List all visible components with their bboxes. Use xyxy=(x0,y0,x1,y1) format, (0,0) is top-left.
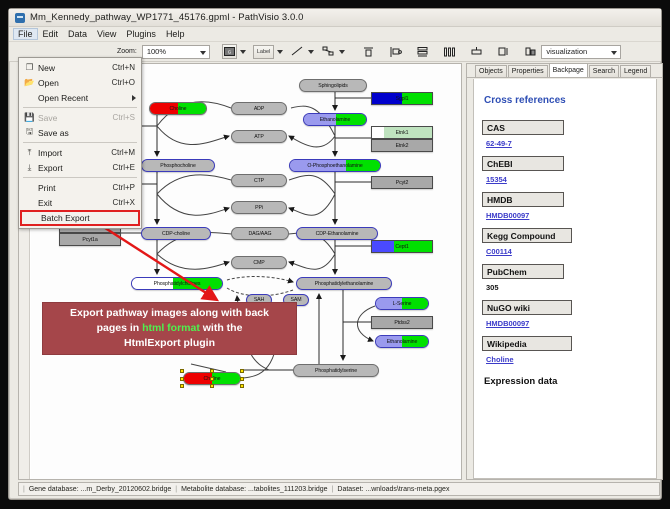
selection-handle[interactable] xyxy=(210,377,214,381)
pathway-node-ethanolamine-top[interactable]: Ethanolamine xyxy=(303,113,367,126)
pathway-node-label: Phosphatidylserine xyxy=(315,368,357,374)
menu-item-shortcut: Ctrl+O xyxy=(112,78,141,87)
status-dataset: Dataset: ...wnloads\trans-meta.pgex xyxy=(337,486,449,493)
annotation-line3: HtmlExport plugin xyxy=(124,337,215,349)
zoom-label: Zoom: xyxy=(117,48,137,55)
align-left-icon[interactable] xyxy=(388,44,403,59)
menu-data[interactable]: Data xyxy=(63,28,92,40)
xref-section-header: CAS xyxy=(482,120,564,135)
pathway-node-atp[interactable]: ATP xyxy=(231,130,287,143)
xref-section-header: ChEBI xyxy=(482,156,564,171)
menu-item-save: 💾SaveCtrl+S xyxy=(19,110,141,125)
datanode-icon[interactable]: G xyxy=(222,44,237,59)
annotation-line2-a: pages in xyxy=(97,322,143,334)
selection-handle[interactable] xyxy=(180,377,184,381)
chevron-down-icon xyxy=(200,51,206,55)
menu-item-shortcut: Ctrl+X xyxy=(113,198,141,207)
menu-item-label: Exit xyxy=(38,198,113,208)
pathway-node-label: CMP xyxy=(253,260,264,266)
xref-section-header: NuGO wiki xyxy=(482,300,572,315)
menu-item-label: Save as xyxy=(38,128,135,138)
pathway-node-sphingolipids[interactable]: Sphingolipids xyxy=(299,79,367,92)
group-icon[interactable] xyxy=(469,44,484,59)
status-gene-database: Gene database: ...m_Derby_20120602.bridg… xyxy=(29,486,171,493)
xref-link[interactable]: HMDB00097 xyxy=(486,211,648,220)
annotation-line1: Export pathway images along with back xyxy=(70,307,269,319)
export-icon: ⤓ xyxy=(21,162,38,173)
pathway-node-label: Phosphocholine xyxy=(160,163,196,169)
open-folder-icon: 📂 xyxy=(21,77,38,88)
selection-handle[interactable] xyxy=(180,369,184,373)
pathway-node-label: Pcyt1a xyxy=(82,237,97,243)
new-file-icon: ❐ xyxy=(21,62,38,73)
pathway-node-sgpl1[interactable]: Sgpl1 xyxy=(371,92,433,105)
selection-handle[interactable] xyxy=(180,384,184,388)
visualization-combo[interactable]: visualization xyxy=(541,45,621,59)
pathway-node-label: PPi xyxy=(255,205,263,211)
annotation-line2-b: with the xyxy=(200,322,243,334)
pathway-node-ethanolamine-bot[interactable]: Ethanolamine xyxy=(375,335,429,348)
pathway-node-label: Etnk1 xyxy=(396,130,409,136)
pathway-node-etnk2[interactable]: Etnk2 xyxy=(371,139,433,152)
distribute-icon[interactable] xyxy=(442,44,457,59)
pathway-node-phosphatidylcholines[interactable]: Phosphatidylcholines xyxy=(131,277,223,290)
menu-item-label: Save xyxy=(38,113,113,123)
expression-data-heading: Expression data xyxy=(484,376,648,387)
interaction-icon[interactable] xyxy=(321,44,336,59)
xref-section-header: HMDB xyxy=(482,192,564,207)
menu-item-new[interactable]: ❐NewCtrl+N xyxy=(19,60,141,75)
pathway-node-label: ATP xyxy=(254,134,263,140)
side-panel: Objects Properties Backpage Search Legen… xyxy=(466,63,663,480)
chevron-down-icon xyxy=(611,51,617,55)
selection-handle[interactable] xyxy=(210,369,214,373)
menu-item-shortcut: Ctrl+E xyxy=(113,163,141,172)
tab-properties[interactable]: Properties xyxy=(508,65,548,77)
order-icon[interactable] xyxy=(496,44,511,59)
pathway-node-label: ADP xyxy=(254,106,264,112)
pathway-node-o-phosphoethanol[interactable]: O-Phosphoethanolamine xyxy=(289,159,381,172)
menu-item-label: Batch Export xyxy=(41,213,132,223)
label-button[interactable]: Label xyxy=(253,45,274,59)
pathway-node-label: DAG/AAG xyxy=(249,231,272,237)
pathway-node-pcyt2[interactable]: Pcyt2 xyxy=(371,176,433,189)
screenshot-root: Mm_Kennedy_pathway_WP1771_45176.gpml - P… xyxy=(0,0,670,509)
pathway-node-dagaag[interactable]: DAG/AAG xyxy=(231,227,289,240)
menu-item-shortcut: Ctrl+P xyxy=(113,183,141,192)
expression-tone-left xyxy=(372,241,394,252)
zoom-combo[interactable]: 100% xyxy=(142,45,210,59)
pathway-node-ptdss2[interactable]: Ptdss2 xyxy=(371,316,433,329)
pathway-node-pcyt1a[interactable]: Pcyt1a xyxy=(59,233,121,246)
window-title: Mm_Kennedy_pathway_WP1771_45176.gpml - P… xyxy=(30,12,304,23)
menu-item-label: Export xyxy=(38,163,113,173)
interaction-dropdown-arrow-icon[interactable] xyxy=(339,50,345,54)
pathway-node-phosphatidylserine[interactable]: Phosphatidylserine xyxy=(293,364,379,377)
menu-file[interactable]: File xyxy=(13,28,38,40)
pathway-node-etnk1[interactable]: Etnk1 xyxy=(371,126,433,139)
pathway-node-label: Ethanolamine xyxy=(320,117,351,123)
save-as-icon: 🖫 xyxy=(21,126,38,140)
label-dropdown-arrow-icon[interactable] xyxy=(277,50,283,54)
xref-value: 305 xyxy=(486,283,648,292)
status-sep-3: | xyxy=(332,486,334,493)
menu-bar: File Edit Data View Plugins Help xyxy=(9,27,661,42)
pathway-node-ppi[interactable]: PPi xyxy=(231,201,287,214)
import-icon: ⤒ xyxy=(21,147,38,158)
pathway-node-cept1[interactable]: Cept1 xyxy=(371,240,433,253)
pathway-node-adp[interactable]: ADP xyxy=(231,102,287,115)
selection-handle[interactable] xyxy=(240,369,244,373)
visualization-value: visualization xyxy=(546,47,587,56)
menu-separator xyxy=(23,107,137,108)
menu-item-export[interactable]: ⤓ExportCtrl+E xyxy=(19,160,141,175)
menu-plugins[interactable]: Plugins xyxy=(121,28,161,40)
menu-item-batch-export[interactable]: Batch Export xyxy=(20,210,140,226)
menu-item-save-as[interactable]: 🖫Save as xyxy=(19,125,141,140)
pathvisio-icon xyxy=(15,13,25,23)
datanode-dropdown-arrow-icon[interactable] xyxy=(240,50,246,54)
xref-section-header: Wikipedia xyxy=(482,336,572,351)
menu-item-print[interactable]: PrintCtrl+P xyxy=(19,180,141,195)
xref-link[interactable]: 62-49-7 xyxy=(486,139,648,148)
selection-handle[interactable] xyxy=(210,384,214,388)
menu-item-label: Print xyxy=(38,183,113,193)
pathway-node-label: Ptdss2 xyxy=(394,320,409,326)
title-bar: Mm_Kennedy_pathway_WP1771_45176.gpml - P… xyxy=(9,9,661,27)
pathway-node-label: O-Phosphoethanolamine xyxy=(307,163,362,169)
expression-tone-left xyxy=(372,127,384,138)
cross-reference-list: CAS62-49-7ChEBI15354HMDBHMDB00097Kegg Co… xyxy=(482,120,648,364)
align-top-icon[interactable] xyxy=(361,44,376,59)
application-window: Mm_Kennedy_pathway_WP1771_45176.gpml - P… xyxy=(8,8,662,500)
pathway-node-phosphatidylethanol[interactable]: Phosphatidylethanolamine xyxy=(296,277,392,290)
menu-item-label: Import xyxy=(38,148,111,158)
pathway-node-label: Choline xyxy=(170,106,187,112)
pathway-node-cdp-choline[interactable]: CDP-choline xyxy=(141,227,211,240)
pathway-node-cmp[interactable]: CMP xyxy=(231,256,287,269)
status-bar: | Gene database: ...m_Derby_20120602.bri… xyxy=(18,482,660,496)
menu-item-shortcut: Ctrl+S xyxy=(113,113,141,122)
menu-item-shortcut: Ctrl+N xyxy=(112,63,141,72)
zoom-value: 100% xyxy=(147,47,166,56)
menu-help[interactable]: Help xyxy=(161,28,190,40)
status-sep-1: | xyxy=(23,486,25,493)
menu-item-label: Open Recent xyxy=(38,93,135,103)
menu-separator xyxy=(23,142,137,143)
xref-link[interactable]: HMDB00097 xyxy=(486,319,648,328)
pathway-node-choline-top[interactable]: Choline xyxy=(149,102,207,115)
menu-item-open[interactable]: 📂OpenCtrl+O xyxy=(19,75,141,90)
pathway-node-label: Sgpl1 xyxy=(396,96,409,102)
backpage-content[interactable]: Cross references CAS62-49-7ChEBI15354HMD… xyxy=(473,79,657,479)
file-menu-popup[interactable]: ❐NewCtrl+N📂OpenCtrl+OOpen Recent💾SaveCtr… xyxy=(18,57,142,229)
pathway-node-ctp[interactable]: CTP xyxy=(231,174,287,187)
pathway-node-label: CDP-choline xyxy=(162,231,190,237)
menu-item-open-recent[interactable]: Open Recent xyxy=(19,90,141,105)
xref-section-header: PubChem xyxy=(482,264,564,279)
pathway-node-label: Sphingolipids xyxy=(318,83,348,89)
tab-backpage[interactable]: Backpage xyxy=(549,63,588,77)
tab-objects[interactable]: Objects xyxy=(475,65,507,77)
cross-references-heading: Cross references xyxy=(484,95,648,106)
annotation-banner: Export pathway images along with back pa… xyxy=(42,302,297,355)
pathway-node-label: L-Serine xyxy=(393,301,412,307)
pathway-node-cdp-ethanolamine[interactable]: CDP-Ethanolamine xyxy=(296,227,378,240)
side-panel-tabs: Objects Properties Backpage Search Legen… xyxy=(467,64,662,78)
xref-link[interactable]: C00114 xyxy=(486,247,648,256)
pathway-node-label: CTP xyxy=(254,178,264,184)
tab-legend[interactable]: Legend xyxy=(620,65,651,77)
menu-item-import[interactable]: ⤒ImportCtrl+M xyxy=(19,145,141,160)
stack-icon[interactable] xyxy=(415,44,430,59)
save-disk-icon: 💾 xyxy=(21,112,38,123)
menu-item-label: New xyxy=(38,63,112,73)
annotation-highlight: html format xyxy=(142,322,200,334)
line-icon[interactable] xyxy=(290,44,305,59)
pathway-node-label: Phosphatidylethanolamine xyxy=(315,281,373,287)
menu-item-exit[interactable]: ExitCtrl+X xyxy=(19,195,141,210)
visualization-icon[interactable] xyxy=(523,44,538,59)
pathway-node-phosphocholine[interactable]: Phosphocholine xyxy=(141,159,215,172)
menu-edit[interactable]: Edit xyxy=(38,28,64,40)
status-sep-2: | xyxy=(175,486,177,493)
line-dropdown-arrow-icon[interactable] xyxy=(308,50,314,54)
submenu-arrow-icon xyxy=(132,95,136,101)
svg-text:G: G xyxy=(228,49,232,54)
pathway-node-label: Ethanolamine xyxy=(387,339,418,345)
selection-handle[interactable] xyxy=(240,384,244,388)
pathway-node-label: Phosphatidylcholines xyxy=(154,281,201,287)
pathway-node-label: CDP-Ethanolamine xyxy=(316,231,359,237)
tab-search[interactable]: Search xyxy=(589,65,619,77)
pathway-node-label: Cept1 xyxy=(395,244,408,250)
xref-link[interactable]: 15354 xyxy=(486,175,648,184)
xref-link[interactable]: Choline xyxy=(486,355,648,364)
menu-item-label: Open xyxy=(38,78,112,88)
pathway-node-label: Etnk2 xyxy=(396,143,409,149)
pathway-node-label: Pcyt2 xyxy=(396,180,408,186)
xref-section-header: Kegg Compound xyxy=(482,228,572,243)
menu-item-shortcut: Ctrl+M xyxy=(111,148,141,157)
menu-view[interactable]: View xyxy=(92,28,121,40)
status-metabolite-database: Metabolite database: ...tabolites_111203… xyxy=(181,486,327,493)
selection-handle[interactable] xyxy=(240,377,244,381)
menu-separator xyxy=(23,177,137,178)
pathway-node-l-serine[interactable]: L-Serine xyxy=(375,297,429,310)
